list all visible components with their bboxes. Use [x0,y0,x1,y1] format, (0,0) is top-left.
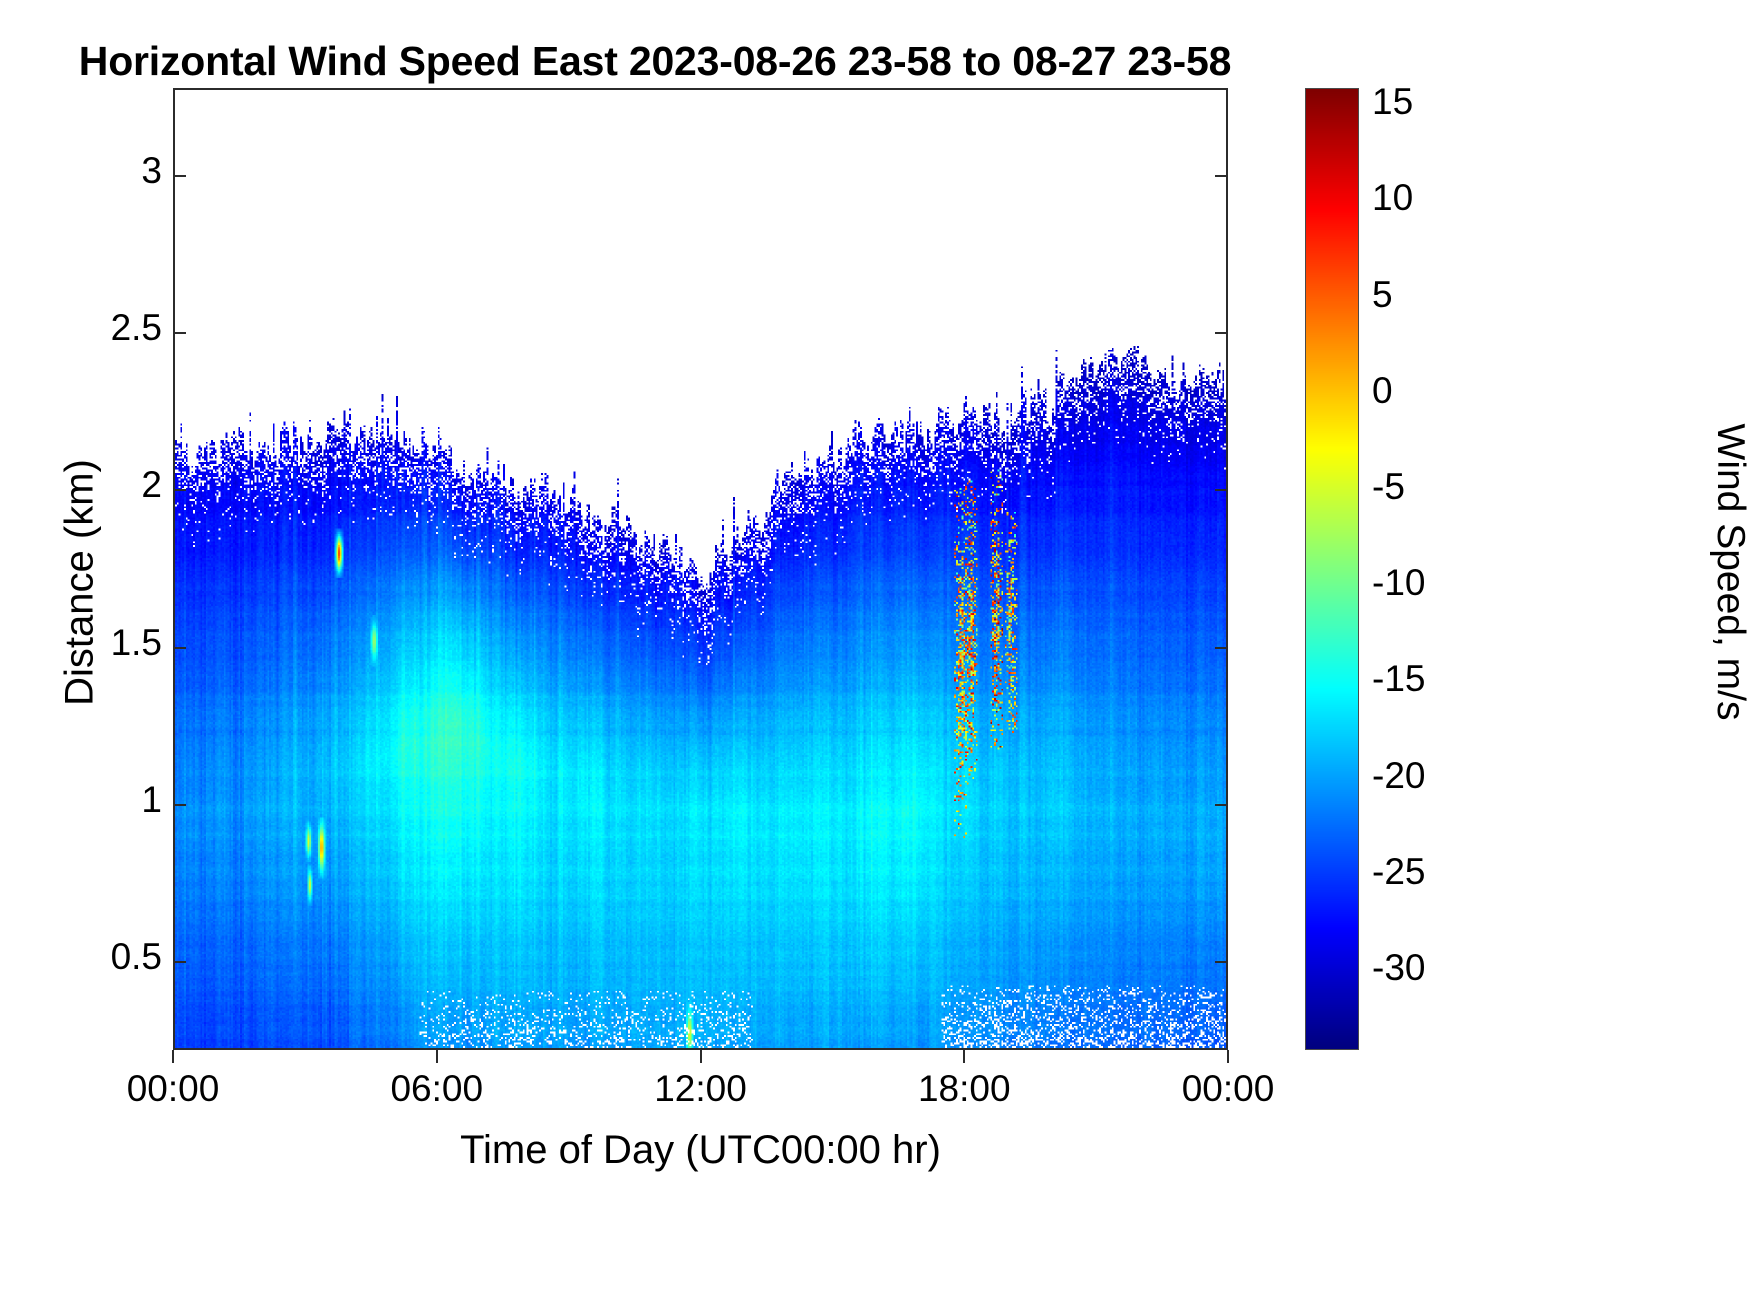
colorbar-tick-label: -5 [1372,466,1405,508]
colorbar-tick-label: 10 [1372,177,1413,219]
y-axis-tick-label: 3 [141,150,162,192]
colorbar[interactable] [1305,88,1359,1050]
colorbar-tick-label: -10 [1372,562,1425,604]
x-axis-tick-label: 00:00 [127,1068,220,1110]
figure-canvas: Horizontal Wind Speed East 2023-08-26 23… [0,0,1750,1313]
colorbar-label: Wind Speed, m/s [1708,72,1750,1072]
y-axis-tick-mark-right [1215,647,1228,649]
y-axis-tick-label: 2.5 [111,307,162,349]
x-axis-tick-mark [436,1050,438,1063]
y-axis-tick-mark-right [1215,175,1228,177]
y-axis-tick-mark [173,961,186,963]
y-axis-tick-mark [173,489,186,491]
y-axis-tick-mark-right [1215,804,1228,806]
colorbar-tick-label: 15 [1372,81,1413,123]
y-axis-tick-mark [173,647,186,649]
colorbar-tick-label: -15 [1372,658,1425,700]
y-axis-tick-mark-right [1215,489,1228,491]
x-axis-tick-label: 00:00 [1182,1068,1275,1110]
colorbar-tick-label: -20 [1372,755,1425,797]
heatmap-axes[interactable] [173,88,1228,1050]
y-axis-tick-label: 2 [141,464,162,506]
colorbar-tick-label: -25 [1372,851,1425,893]
y-axis-tick-label: 0.5 [111,936,162,978]
x-axis-tick-label: 06:00 [390,1068,483,1110]
y-axis-label: Distance (km) [58,83,103,1083]
y-axis-tick-mark [173,175,186,177]
x-axis-tick-mark [172,1050,174,1063]
x-axis-tick-mark [963,1050,965,1063]
x-axis-tick-mark [1227,1050,1229,1063]
x-axis-tick-label: 18:00 [918,1068,1011,1110]
y-axis-tick-mark [173,804,186,806]
x-axis-label: Time of Day (UTC00:00 hr) [173,1128,1228,1173]
colorbar-tick-label: -30 [1372,947,1425,989]
heatmap-image [175,90,1226,1048]
x-axis-tick-mark [700,1050,702,1063]
y-axis-tick-mark-right [1215,961,1228,963]
x-axis-tick-label: 12:00 [654,1068,747,1110]
y-axis-tick-mark-right [1215,332,1228,334]
y-axis-tick-mark [173,332,186,334]
colorbar-tick-label: 0 [1372,370,1393,412]
colorbar-gradient [1306,89,1358,1049]
y-axis-tick-label: 1 [141,779,162,821]
colorbar-tick-label: 5 [1372,274,1393,316]
page-title: Horizontal Wind Speed East 2023-08-26 23… [0,38,1310,85]
y-axis-tick-label: 1.5 [111,622,162,664]
